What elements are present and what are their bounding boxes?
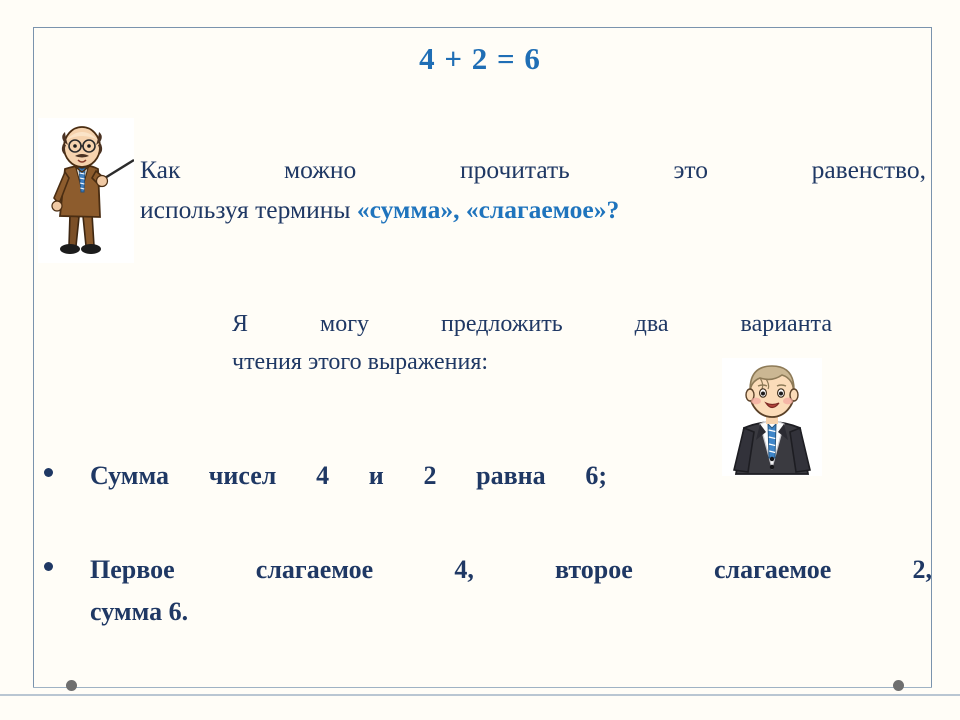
question-line-2-prefix: используя термины bbox=[140, 195, 357, 224]
question-highlighted-terms: «сумма», «слагаемое»? bbox=[357, 195, 619, 224]
frame-top-border bbox=[33, 27, 932, 28]
answer-bullet-list: Сумма чисел 4 и 2 равна 6; Первое слагае… bbox=[40, 455, 930, 685]
bullet-marker-icon bbox=[44, 562, 53, 571]
list-item: Сумма чисел 4 и 2 равна 6; bbox=[40, 455, 930, 497]
question-line-2: используя термины «сумма», «слагаемое»? bbox=[140, 190, 926, 230]
slide-title: 4 + 2 = 6 bbox=[0, 41, 960, 77]
frame-bottom-border bbox=[33, 687, 932, 688]
teacher-question-text: Как можно прочитать это равенство, испол… bbox=[140, 150, 926, 230]
bullet-1-line-1: Сумма чисел 4 и 2 равна 6; bbox=[90, 455, 607, 497]
slide-canvas: 4 + 2 = 6 bbox=[0, 0, 960, 720]
question-line-1: Как можно прочитать это равенство, bbox=[140, 150, 926, 190]
bullet-2-line-1: Первое слагаемое 4, второе слагаемое 2, bbox=[90, 549, 932, 591]
bullet-marker-icon bbox=[44, 468, 53, 477]
slide-bottom-rule bbox=[0, 694, 960, 696]
bullet-2-line-2: сумма 6. bbox=[90, 591, 930, 633]
frame-left-border bbox=[33, 27, 34, 687]
answer-intro-line-1: Я могу предложить два варианта bbox=[232, 305, 832, 343]
teacher-cartoon-icon bbox=[38, 118, 134, 263]
list-item: Первое слагаемое 4, второе слагаемое 2, … bbox=[40, 549, 930, 633]
